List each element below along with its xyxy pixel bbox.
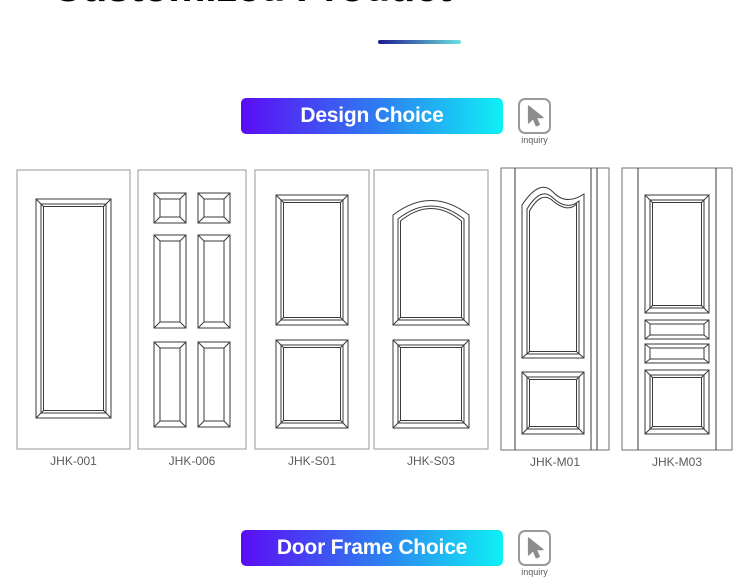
- door-label-jhk-s03: JHK-S03: [373, 454, 489, 468]
- inquiry-button-frame[interactable]: inquiry: [515, 530, 554, 578]
- page-title: Customized Product: [0, 0, 503, 8]
- door-frame-choice-section: Door Frame Choice inquiry: [241, 530, 554, 578]
- inquiry-label: inquiry: [521, 567, 548, 578]
- door-label-jhk-m03: JHK-M03: [621, 455, 733, 469]
- door-card-jhk-m01[interactable]: JHK-M01: [500, 160, 610, 452]
- door-label-jhk-m01: JHK-M01: [500, 455, 610, 469]
- door-illustration-jhk-m01: [500, 160, 610, 452]
- door-card-jhk-m03[interactable]: JHK-M03: [621, 160, 733, 452]
- door-label-jhk-s01: JHK-S01: [254, 454, 370, 468]
- cursor-arrow-icon: [527, 105, 547, 128]
- door-illustration-jhk-m03: [621, 160, 733, 452]
- design-choice-section: Design Choice inquiry: [241, 98, 554, 146]
- door-label-jhk-006: JHK-006: [137, 454, 247, 468]
- door-label-jhk-001: JHK-001: [16, 454, 131, 468]
- door-illustration-jhk-006: [137, 160, 247, 450]
- door-frame-choice-button[interactable]: Door Frame Choice: [241, 530, 503, 566]
- door-card-jhk-s03[interactable]: JHK-S03: [373, 160, 489, 450]
- inquiry-button-design[interactable]: inquiry: [515, 98, 554, 146]
- inquiry-square-frame: [518, 530, 551, 566]
- title-underline-accent: [378, 40, 461, 44]
- inquiry-square-frame: [518, 98, 551, 134]
- inquiry-label: inquiry: [521, 135, 548, 146]
- door-illustration-jhk-001: [16, 160, 131, 450]
- door-card-jhk-s01[interactable]: JHK-S01: [254, 160, 370, 450]
- cursor-arrow-icon: [527, 537, 547, 560]
- door-card-jhk-001[interactable]: JHK-001: [16, 160, 131, 450]
- door-design-gallery: JHK-001: [0, 160, 750, 480]
- door-illustration-jhk-s03: [373, 160, 489, 450]
- door-illustration-jhk-s01: [254, 160, 370, 450]
- design-choice-button[interactable]: Design Choice: [241, 98, 503, 134]
- door-card-jhk-006[interactable]: JHK-006: [137, 160, 247, 450]
